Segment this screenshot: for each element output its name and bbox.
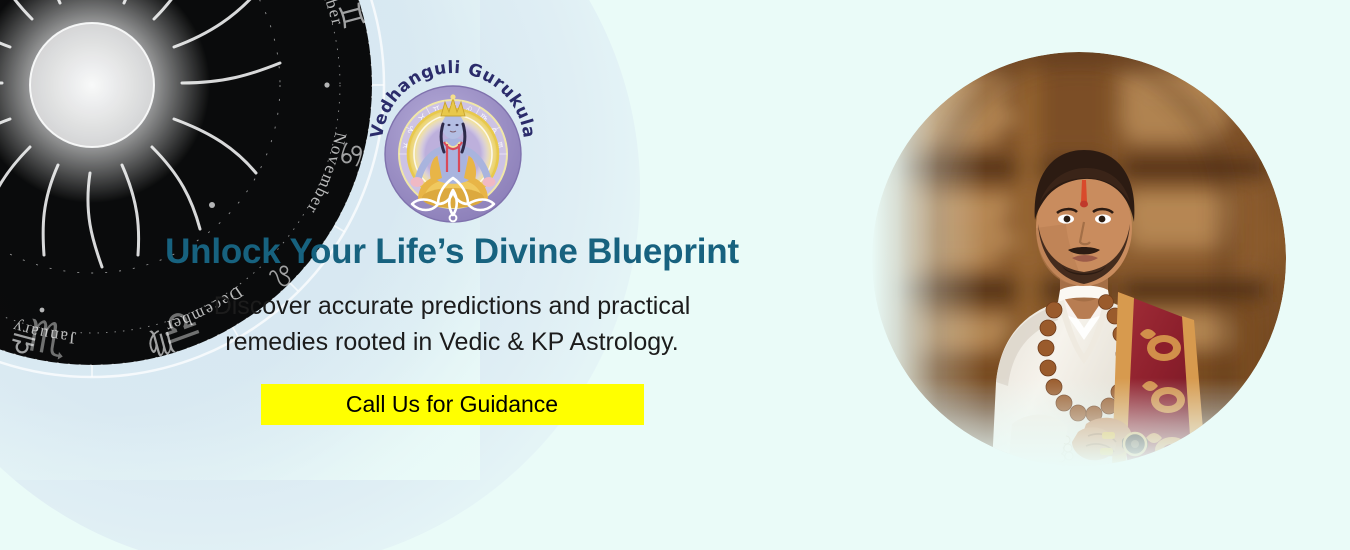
hero-subhead: Discover accurate predictions and practi… — [60, 289, 844, 360]
call-us-for-guidance-button[interactable]: Call Us for Guidance — [261, 384, 644, 425]
cta-container: Call Us for Guidance — [60, 384, 844, 425]
portrait-circle-mask — [872, 52, 1286, 466]
page-title: Unlock Your Life’s Divine Blueprint — [60, 232, 844, 271]
hero-content: Unlock Your Life’s Divine Blueprint Disc… — [60, 232, 844, 425]
hero-banner: September October November December Janu… — [0, 0, 1350, 550]
subhead-line-2: remedies rooted in Vedic & KP Astrology. — [225, 328, 679, 356]
astrologer-portrait — [872, 52, 1286, 466]
vedhanguli-gurukula-logo[interactable]: ♈ ♉ ♊ ♋ ♌ ♍ ♎ ♏ ♓ — [368, 58, 538, 226]
subhead-line-1: Discover accurate predictions and practi… — [214, 292, 691, 320]
